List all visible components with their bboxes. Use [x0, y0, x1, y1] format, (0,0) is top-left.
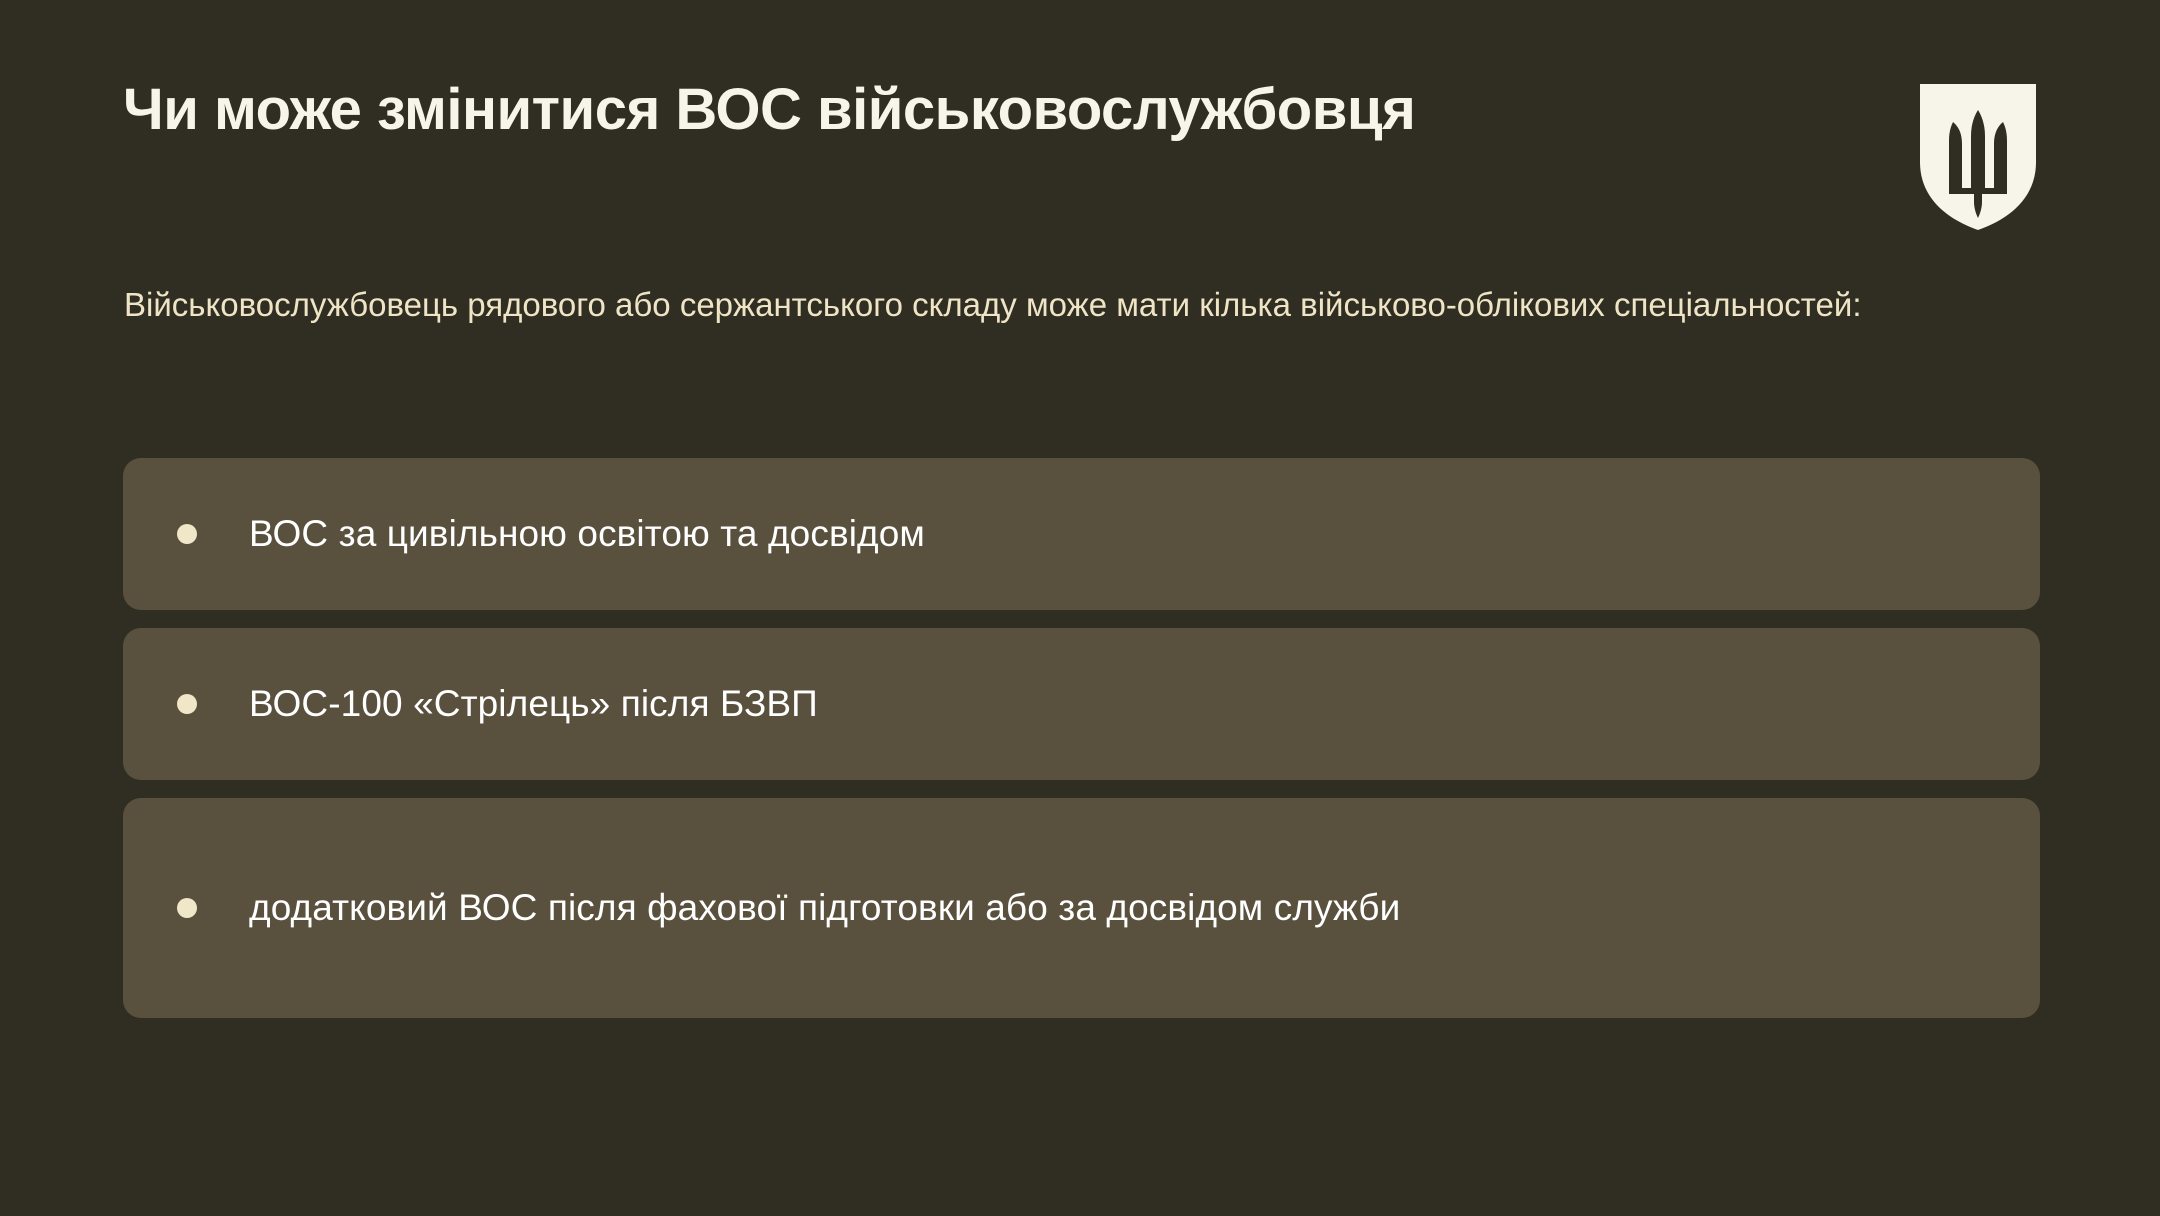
bullet-card[interactable]: ВОС за цивільною освітою та досвідом — [123, 458, 2040, 610]
header: Чи може змінитися ВОС військовослужбовця — [123, 78, 2080, 230]
slide-root: Чи може змінитися ВОС військовослужбовця… — [0, 0, 2160, 1216]
bullet-dot-icon — [177, 694, 197, 714]
bullet-card-label: додатковий ВОС після фахової підготовки … — [249, 882, 1400, 935]
bullet-dot-icon — [177, 524, 197, 544]
bullet-card[interactable]: ВОС-100 «Стрілець» після БЗВП — [123, 628, 2040, 780]
ukrainian-trident-shield-icon — [1920, 84, 2036, 230]
page-title: Чи може змінитися ВОС військовослужбовця — [123, 78, 1415, 143]
bullet-dot-icon — [177, 898, 197, 918]
bullet-card-label: ВОС за цивільною освітою та досвідом — [249, 508, 925, 561]
subtitle-text: Військовослужбовець рядового або сержант… — [124, 282, 1924, 329]
bullet-card-label: ВОС-100 «Стрілець» після БЗВП — [249, 678, 818, 731]
bullet-card[interactable]: додатковий ВОС після фахової підготовки … — [123, 798, 2040, 1018]
bullet-card-list: ВОС за цивільною освітою та досвідом ВОС… — [123, 458, 2040, 1018]
